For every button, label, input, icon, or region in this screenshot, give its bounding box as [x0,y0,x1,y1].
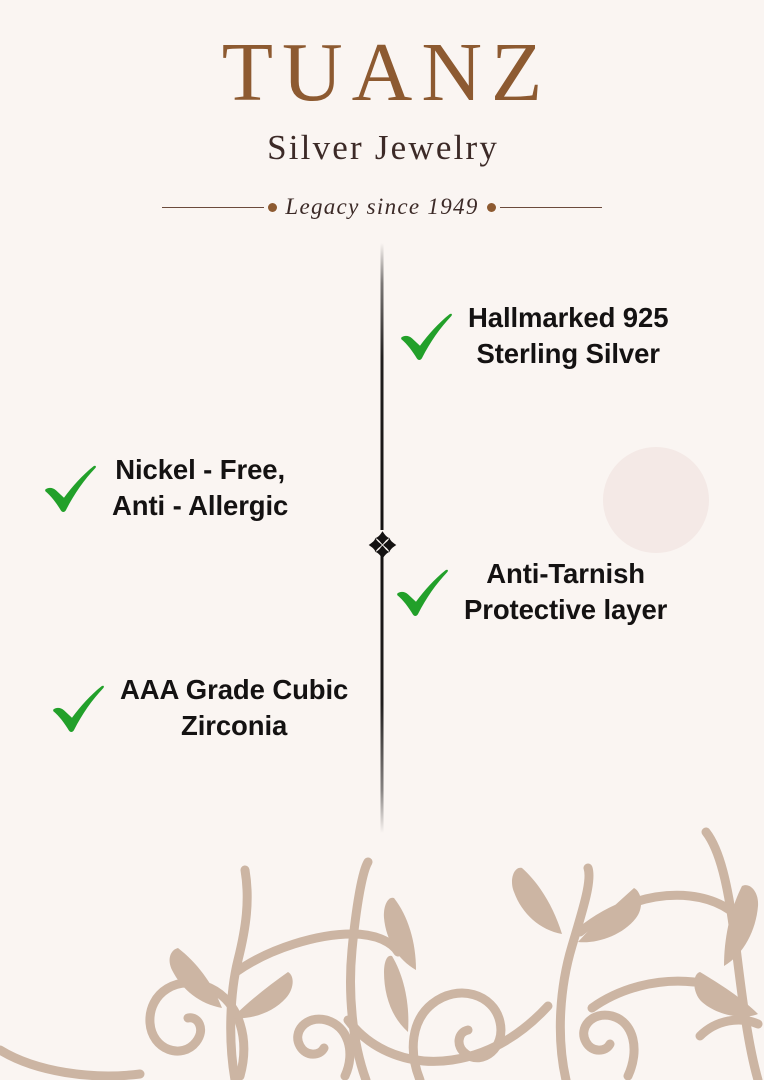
feature-item-tarnish: Anti-Tarnish Protective layer [394,556,667,629]
tagline-dot-left [268,203,277,212]
tagline-rule-left [162,207,264,208]
feature-label-hallmark: Hallmarked 925 Sterling Silver [468,300,668,373]
quatrefoil-fleuron-icon [367,530,397,560]
feature-line: Nickel - Free, [112,452,288,488]
feature-label-nickel: Nickel - Free, Anti - Allergic [112,452,288,525]
product-feature-poster: TUANZ Silver Jewelry Legacy since 1949 [0,0,764,1080]
brand-tagline: Legacy since 1949 [281,194,482,220]
brand-header: TUANZ Silver Jewelry [0,0,764,167]
feature-line: Hallmarked 925 [468,300,668,336]
feature-line: Anti - Allergic [112,488,288,524]
feature-label-tarnish: Anti-Tarnish Protective layer [464,556,667,629]
feature-item-nickel: Nickel - Free, Anti - Allergic [42,452,288,525]
feature-line: Sterling Silver [468,336,668,372]
floral-vine-ornament [0,720,764,1080]
tagline-dot-right [487,203,496,212]
brand-name: TUANZ [0,0,764,116]
tagline-rule-right [500,207,602,208]
brand-subtitle: Silver Jewelry [0,116,764,168]
feature-item-hallmark: Hallmarked 925 Sterling Silver [398,300,668,373]
feature-line: AAA Grade Cubic [120,672,348,708]
divider-line-upper [381,243,384,530]
feature-line: Protective layer [464,592,667,628]
check-icon [394,566,450,618]
check-icon [42,462,98,514]
accent-circle-shape [603,447,709,553]
brand-tagline-row: Legacy since 1949 [0,194,764,220]
feature-line: Anti-Tarnish [464,556,667,592]
check-icon [398,310,454,362]
